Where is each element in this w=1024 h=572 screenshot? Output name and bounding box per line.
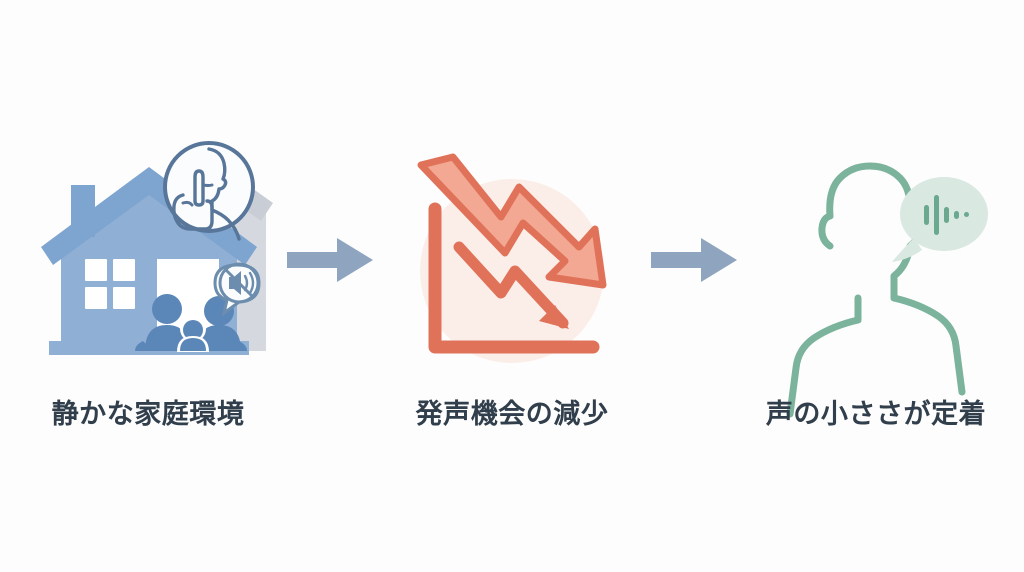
right-arrow-icon (651, 238, 737, 282)
quiet-home-icon (14, 142, 282, 374)
right-arrow-icon (287, 238, 373, 282)
stage-label-fewer-vocal-chances: 発声機会の減少 (416, 400, 609, 430)
flow-container: 静かな家庭環境 (0, 0, 1024, 572)
declining-chart-icon (378, 142, 646, 374)
stage-label-quiet-home: 静かな家庭環境 (52, 400, 245, 430)
stage-soft-voice-fixed: 声の小ささが定着 (742, 142, 1010, 430)
connector-arrow-2 (646, 144, 742, 376)
stage-label-soft-voice-fixed: 声の小ささが定着 (766, 400, 986, 430)
stage-quiet-home: 静かな家庭環境 (14, 142, 282, 430)
diagram-canvas: 静かな家庭環境 (0, 0, 1024, 572)
stage-fewer-vocal-chances: 発声機会の減少 (378, 142, 646, 430)
connector-arrow-1 (282, 144, 378, 376)
person-speaking-softly-icon (742, 142, 1010, 374)
